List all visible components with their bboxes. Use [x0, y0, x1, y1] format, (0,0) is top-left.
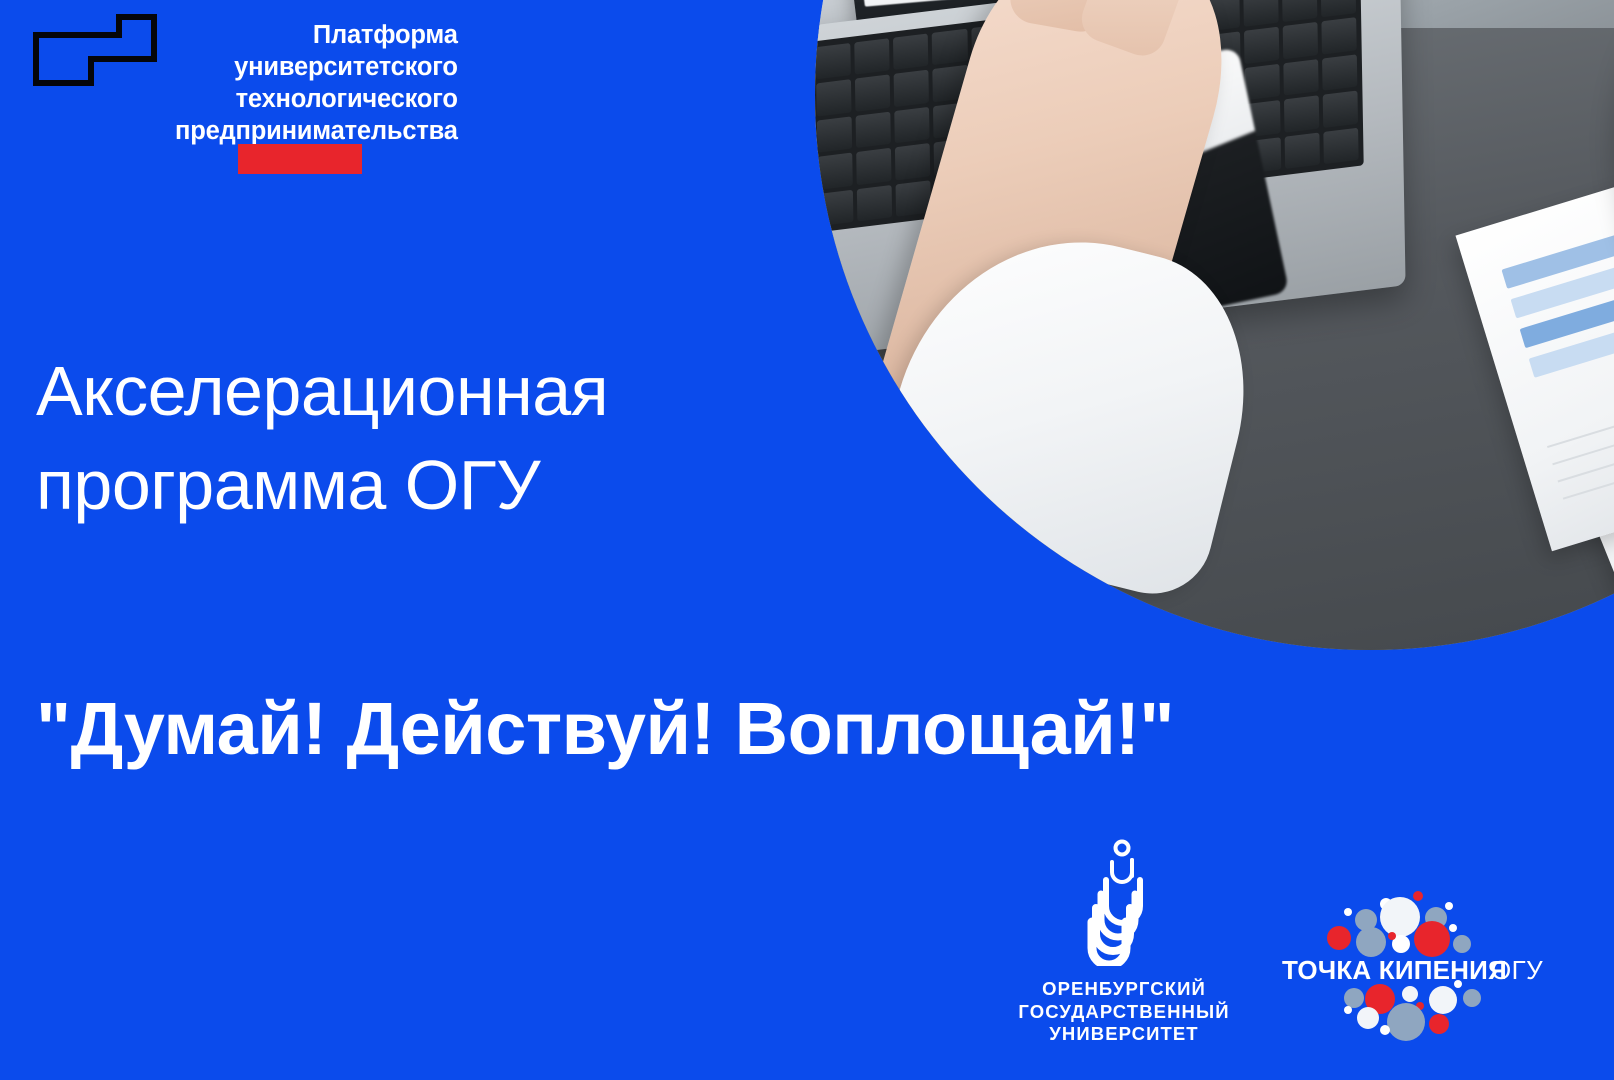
platform-logo: Платформа университетского технологическ…	[33, 14, 458, 148]
platform-title-line-1: Платформа	[175, 20, 458, 52]
paper-text-lines-front	[1547, 373, 1614, 515]
ogu-nested-u-mark-icon	[1064, 836, 1184, 966]
page-title: Акселерационная программа ОГУ	[36, 345, 816, 533]
svg-text:ТОЧКА КИПЕНИЯ: ТОЧКА КИПЕНИЯ	[1282, 955, 1507, 985]
svg-text:ОГУ: ОГУ	[1491, 955, 1543, 985]
paper-bar-chart-front	[1501, 200, 1614, 389]
red-accent-bar	[238, 144, 362, 174]
boiling-point-bubbles-mark-icon: ТОЧКА КИПЕНИЯ ОГУ	[1276, 876, 1576, 1052]
ogu-caption-line-1: ОРЕНБУРГСКИЙ	[1008, 978, 1240, 1001]
photo-circle: Quarter 1 HOUSE FOR RENT	[815, 0, 1614, 650]
platform-title-line-4: предпринимательства	[175, 116, 458, 148]
poster-canvas: Quarter 1 HOUSE FOR RENT	[0, 0, 1614, 1080]
photo-image: Quarter 1 HOUSE FOR RENT	[815, 0, 1614, 650]
boiling-point-logo: ТОЧКА КИПЕНИЯ ОГУ	[1276, 876, 1576, 1052]
platform-title-line-3: технологического	[175, 84, 458, 116]
platform-stepped-mark-icon	[33, 14, 157, 86]
platform-title-line-2: университетского	[175, 52, 458, 84]
slogan: "Думай! Действуй! Воплощай!"	[36, 686, 1174, 771]
headline-line-1: Акселерационная	[36, 345, 816, 439]
ogu-caption-line-3: УНИВЕРСИТЕТ	[1008, 1023, 1240, 1046]
platform-title: Платформа университетского технологическ…	[175, 14, 458, 148]
ogu-caption: ОРЕНБУРГСКИЙ ГОСУДАРСТВЕННЫЙ УНИВЕРСИТЕТ	[1008, 978, 1240, 1046]
ogu-logo: ОРЕНБУРГСКИЙ ГОСУДАРСТВЕННЫЙ УНИВЕРСИТЕТ	[1008, 836, 1240, 1046]
headline-line-2: программа ОГУ	[36, 439, 816, 533]
ogu-caption-line-2: ГОСУДАРСТВЕННЫЙ	[1008, 1001, 1240, 1024]
